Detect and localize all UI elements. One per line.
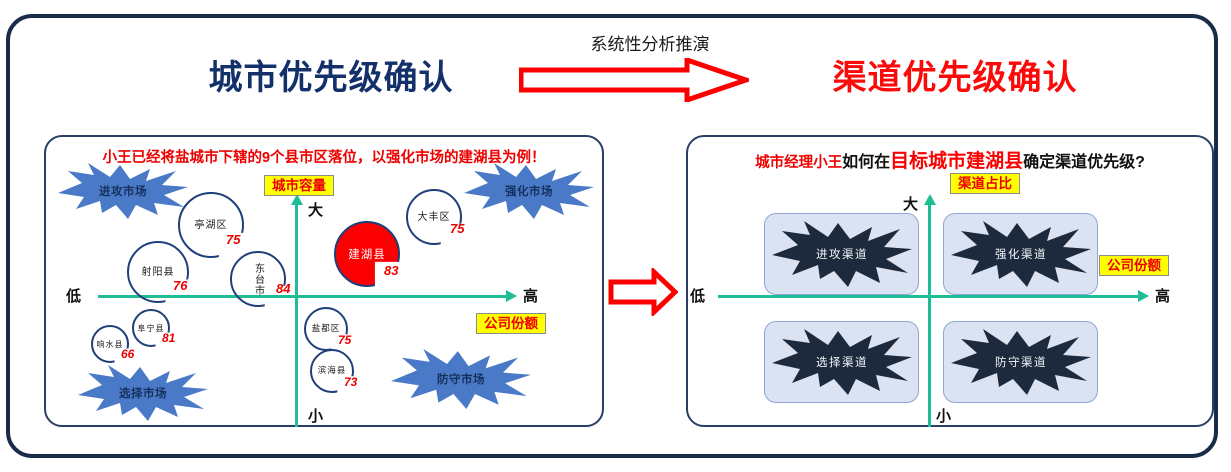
bubble-value: 75 — [226, 232, 240, 247]
bubble-value: 81 — [162, 331, 175, 345]
arrow-caption: 系统性分析推演 — [552, 30, 748, 55]
left-x-low-label: 低 — [66, 285, 81, 306]
left-x-axis-tag: 公司份额 — [476, 313, 546, 334]
left-x-high-label: 高 — [523, 285, 538, 306]
left-y-high-label: 大 — [308, 199, 323, 220]
bubble-value: 84 — [276, 281, 290, 296]
bubble-dafeng[interactable]: 大丰区 75 — [406, 189, 462, 245]
bubble-value: 75 — [450, 221, 464, 236]
burst-attack-channel: 进攻渠道 — [772, 221, 912, 287]
left-y-axis-tag: 城市容量 — [264, 175, 334, 196]
bubble-value: 83 — [384, 263, 398, 278]
bubble-label: 东台市 — [230, 251, 286, 307]
right-x-high-label: 高 — [1155, 285, 1170, 306]
burst-defend-channel: 防守渠道 — [951, 329, 1091, 395]
right-caption-part3: 目标城市建湖县 — [890, 151, 1023, 172]
bubble-dongtai[interactable]: 东台市 84 — [230, 251, 286, 307]
page-title-right: 渠道优先级确认 — [810, 50, 1100, 99]
right-y-axis — [928, 205, 931, 427]
right-caption-part2: 如何在 — [842, 154, 890, 171]
burst-select-channel: 选择渠道 — [772, 329, 912, 395]
page-title-left: 城市优先级确认 — [186, 50, 476, 99]
left-y-axis — [295, 205, 298, 427]
right-caption-part4: 确定渠道优先级? — [1023, 154, 1145, 171]
left-y-low-label: 小 — [308, 405, 323, 426]
bubble-jianhu-highlight[interactable]: 建湖县 83 — [334, 221, 400, 287]
right-y-axis-arrow-icon — [924, 194, 936, 205]
right-x-axis-arrow-icon — [1138, 290, 1149, 302]
burst-strengthen-channel: 强化渠道 — [951, 221, 1091, 287]
right-caption-part1: 城市经理小王 — [755, 155, 842, 171]
bubble-sheyang[interactable]: 射阳县 76 — [127, 241, 189, 303]
left-matrix-panel: 小王已经将盐城市下辖的9个县市区落位，以强化市场的建湖县为例！ 大 小 低 高 … — [44, 135, 604, 427]
burst-select-market-label: 选择市场 — [119, 385, 167, 401]
bubble-value: 66 — [121, 347, 134, 361]
bubble-value: 73 — [344, 375, 357, 389]
burst-attack-market-label: 进攻市场 — [99, 183, 147, 199]
burst-defend-market-label: 防守市场 — [437, 371, 485, 387]
bubble-binhai[interactable]: 滨海县 73 — [310, 349, 354, 393]
left-x-axis-arrow-icon — [506, 290, 517, 302]
process-arrow-icon — [519, 58, 749, 102]
right-y-low-label: 小 — [936, 405, 951, 426]
burst-attack-channel-label: 进攻渠道 — [816, 246, 868, 262]
burst-strengthen-channel-label: 强化渠道 — [995, 246, 1047, 262]
burst-select-channel-label: 选择渠道 — [816, 354, 868, 370]
burst-defend-market: 防守市场 — [391, 349, 531, 409]
burst-attack-market: 进攻市场 — [58, 163, 188, 219]
right-y-axis-tag: 渠道占比 — [950, 173, 1020, 194]
bubble-label: 射阳县 — [127, 241, 189, 303]
bubble-xiangshui[interactable]: 响水县 66 — [91, 325, 129, 363]
bubble-value: 76 — [173, 278, 187, 293]
right-matrix-panel: 城市经理小王如何在目标城市建湖县确定渠道优先级? 大 小 低 高 渠道占比 公司… — [686, 135, 1214, 427]
bubble-value: 75 — [338, 333, 351, 347]
bubble-label: 大丰区 — [406, 189, 462, 245]
right-panel-caption: 城市经理小王如何在目标城市建湖县确定渠道优先级? — [688, 146, 1212, 173]
right-y-high-label: 大 — [903, 193, 918, 214]
transition-arrow-icon — [608, 268, 678, 316]
burst-strengthen-market: 强化市场 — [464, 163, 594, 219]
burst-strengthen-market-label: 强化市场 — [505, 183, 553, 199]
burst-select-market: 选择市场 — [78, 365, 208, 421]
burst-defend-channel-label: 防守渠道 — [995, 354, 1047, 370]
bubble-yandu[interactable]: 盐都区 75 — [304, 307, 348, 351]
right-x-axis-tag: 公司份额 — [1099, 255, 1169, 276]
bubble-funing[interactable]: 阜宁县 81 — [132, 309, 170, 347]
right-x-low-label: 低 — [690, 285, 705, 306]
